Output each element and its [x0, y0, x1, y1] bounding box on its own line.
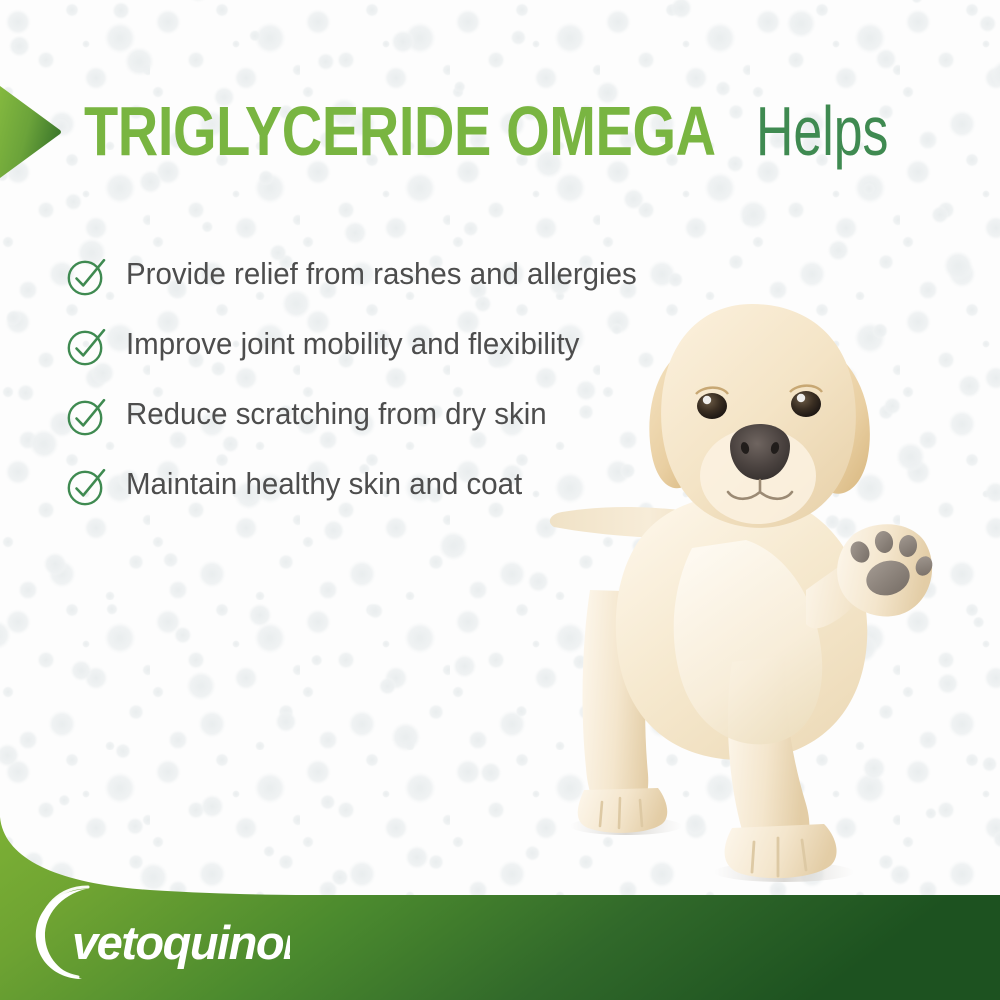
check-circle-icon [66, 465, 108, 507]
title-main-text: TRIGLYCERIDE OMEGA [84, 96, 716, 166]
title-sub-text: Helps [756, 96, 888, 166]
list-item-label: Reduce scratching from dry skin [126, 396, 547, 432]
chevron-right-arrow-icon [0, 86, 62, 178]
vetoquinol-wordmark: vetoquinoL [72, 916, 290, 969]
list-item-label: Maintain healthy skin and coat [126, 466, 522, 502]
dog-raised-paw [837, 524, 935, 616]
check-circle-icon [66, 395, 108, 437]
check-circle-icon [66, 325, 108, 367]
page-title: TRIGLYCERIDE OMEGA Helps [84, 96, 935, 166]
check-circle-icon [66, 255, 108, 297]
marketing-banner: TRIGLYCERIDE OMEGA Helps Provide relief … [0, 0, 1000, 1000]
list-item-label: Provide relief from rashes and allergies [126, 256, 637, 292]
vetoquinol-logo: vetoquinoL [30, 881, 290, 986]
